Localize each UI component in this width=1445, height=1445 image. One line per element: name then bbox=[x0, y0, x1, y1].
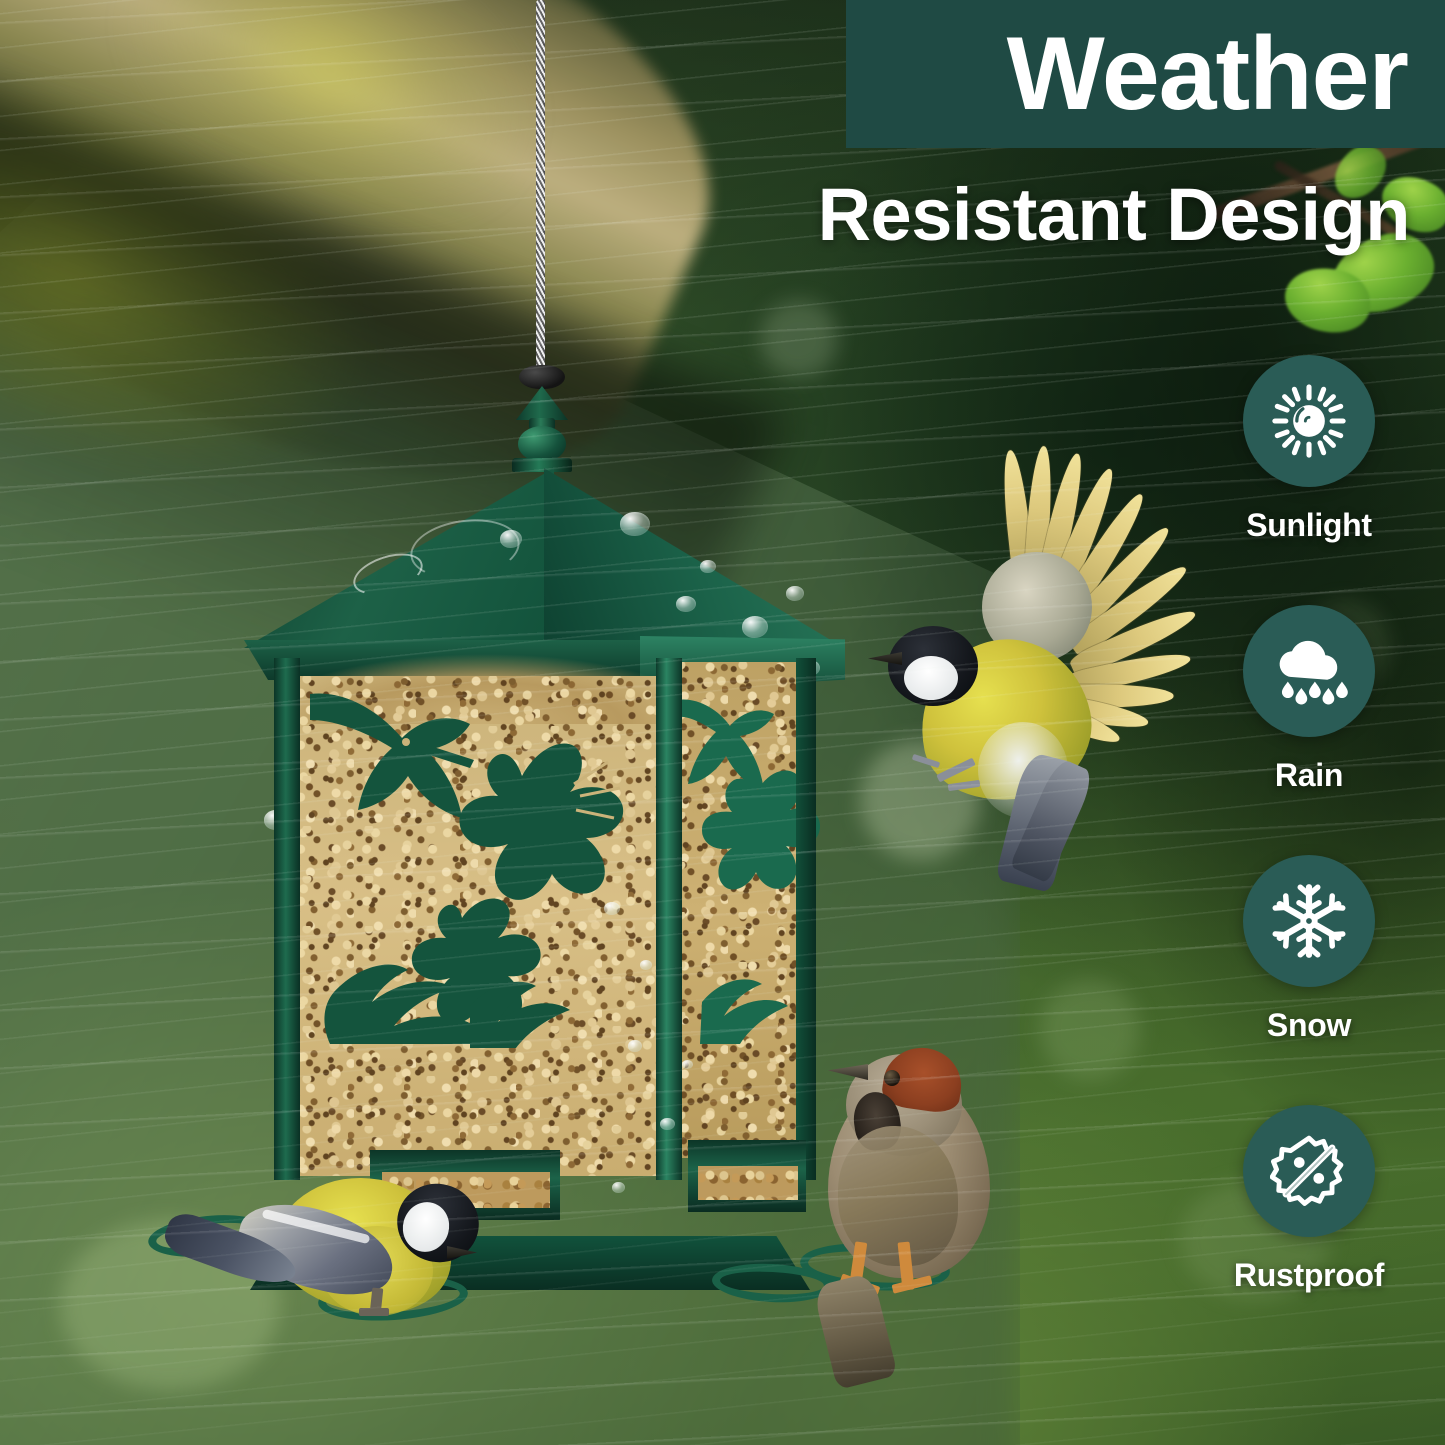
headline-line-1: Weather bbox=[846, 0, 1426, 148]
feature-icon-circle bbox=[1243, 1105, 1375, 1237]
headline-line-2: Resistant Design bbox=[560, 160, 1426, 270]
feature-item-snow[interactable]: Snow bbox=[1216, 855, 1402, 1105]
feature-label: Snow bbox=[1216, 1007, 1402, 1044]
feature-item-rustproof[interactable]: Rustproof bbox=[1216, 1105, 1402, 1355]
feature-icon-circle bbox=[1243, 355, 1375, 487]
sun-icon bbox=[1270, 382, 1348, 460]
product-feature-image: Weather Resistant Design bbox=[0, 0, 1445, 1445]
feature-label: Sunlight bbox=[1216, 507, 1402, 544]
feature-label: Rain bbox=[1216, 757, 1402, 794]
rain-cloud-icon bbox=[1269, 634, 1349, 708]
feature-item-sunlight[interactable]: Sunlight bbox=[1216, 355, 1402, 605]
feature-list: Sunlight Rain bbox=[1216, 355, 1402, 1355]
feature-item-rain[interactable]: Rain bbox=[1216, 605, 1402, 855]
feature-icon-circle bbox=[1243, 605, 1375, 737]
feature-icon-circle bbox=[1243, 855, 1375, 987]
feature-label: Rustproof bbox=[1216, 1257, 1402, 1294]
snowflake-icon bbox=[1269, 881, 1349, 961]
rustproof-icon bbox=[1270, 1132, 1348, 1210]
